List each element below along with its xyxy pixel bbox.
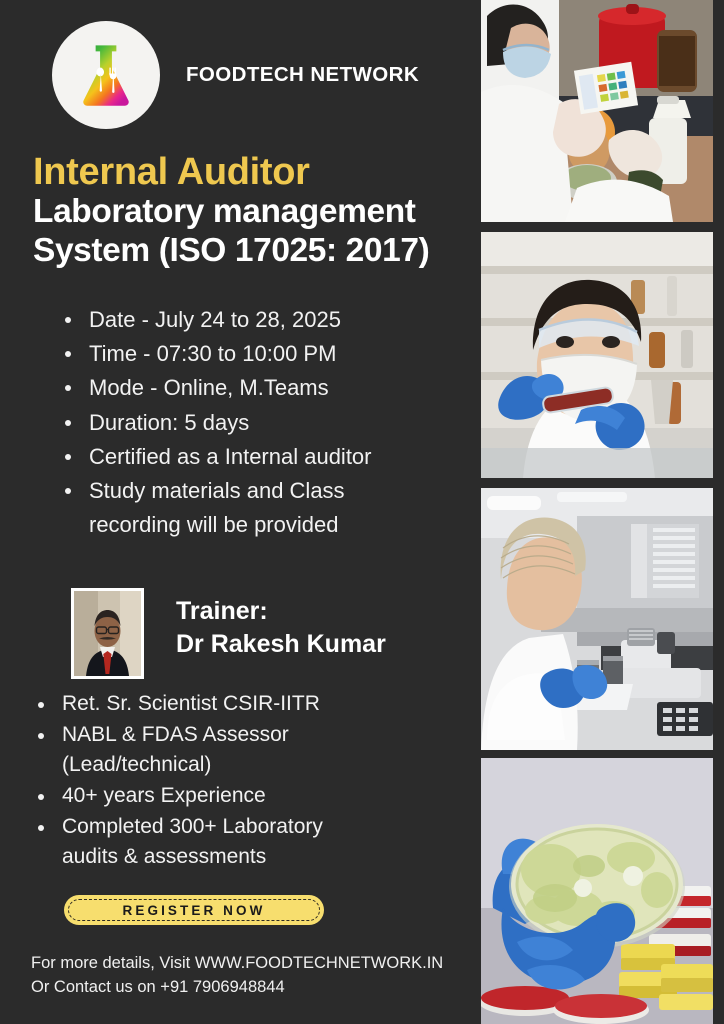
bullet-dot (65, 454, 71, 460)
list-item-label: Ret. Sr. Scientist CSIR-IITR (62, 692, 320, 715)
food-analyst-testing-ph-strips-photo (481, 0, 713, 222)
bullet-dot (65, 351, 71, 357)
trainer-credentials-list: Ret. Sr. Scientist CSIR-IITR NABL & FDAS… (34, 689, 464, 873)
bullet-dot (65, 317, 71, 323)
footer-website-line: For more details, Visit WWW.FOODTECHNETW… (31, 952, 443, 976)
footer-phone-line: Or Contact us on +91 7906948844 (31, 976, 443, 1000)
footer-contact: For more details, Visit WWW.FOODTECHNETW… (31, 952, 443, 1000)
list-item: Mode - Online, M.Teams (62, 371, 477, 405)
page-title: Internal Auditor Laboratory management S… (33, 152, 481, 271)
course-details-list: Date - July 24 to 28, 2025 Time - 07:30 … (62, 303, 477, 542)
flask-with-cutlery-icon (52, 21, 160, 129)
list-item: Date - July 24 to 28, 2025 (62, 303, 477, 337)
title-line-2: Laboratory management (33, 193, 481, 232)
list-item: Completed 300+ Laboratory audits & asses… (34, 812, 464, 873)
bullet-dot (38, 825, 44, 831)
list-item-label-cont: recording will be provided (89, 508, 477, 542)
bullet-dot (38, 794, 44, 800)
bullet-dot (65, 420, 71, 426)
trainer-label: Trainer: (176, 595, 386, 628)
photo-column (481, 0, 724, 1024)
list-item-label: Certified as a Internal auditor (89, 444, 372, 469)
list-item-label: Duration: 5 days (89, 410, 249, 435)
gloved-hands-holding-petri-dish-photo (481, 758, 713, 1024)
lab-scientist-holding-test-tube-photo (481, 232, 713, 478)
list-item-label: 40+ years Experience (62, 784, 266, 807)
list-item: 40+ years Experience (34, 781, 464, 812)
register-now-button[interactable]: REGISTER NOW (64, 895, 324, 925)
list-item-label: Mode - Online, M.Teams (89, 375, 329, 400)
list-item-label: NABL & FDAS Assessor (62, 723, 289, 746)
list-item: Ret. Sr. Scientist CSIR-IITR (34, 689, 464, 720)
bullet-dot (65, 385, 71, 391)
register-button-label: REGISTER NOW (123, 903, 266, 918)
title-line-1: Internal Auditor (33, 152, 481, 192)
bullet-dot (38, 733, 44, 739)
bullet-dot (38, 702, 44, 708)
list-item-label: Study materials and Class (89, 478, 345, 503)
list-item-label-cont: audits & assessments (62, 842, 464, 873)
trainer-block: Trainer: Dr Rakesh Kumar (71, 588, 386, 679)
poster-canvas: FOODTECH NETWORK Internal Auditor Labora… (0, 0, 724, 1024)
list-item-label: Completed 300+ Laboratory (62, 815, 323, 838)
list-item-label: Date - July 24 to 28, 2025 (89, 307, 341, 332)
list-item-label: Time - 07:30 to 10:00 PM (89, 341, 336, 366)
list-item: Duration: 5 days (62, 406, 477, 440)
list-item: NABL & FDAS Assessor (Lead/technical) (34, 720, 464, 781)
trainer-portrait (71, 588, 144, 679)
register-button-dashed-frame: REGISTER NOW (68, 899, 320, 921)
bullet-dot (65, 488, 71, 494)
trainer-name: Dr Rakesh Kumar (176, 628, 386, 661)
title-line-3: System (ISO 17025: 2017) (33, 232, 481, 271)
food-technologist-weighing-cans-photo (481, 488, 713, 750)
brand-header: FOODTECH NETWORK (52, 21, 419, 129)
list-item: Study materials and Class recording will… (62, 474, 477, 542)
brand-name: FOODTECH NETWORK (186, 63, 419, 87)
list-item-label-cont: (Lead/technical) (62, 750, 464, 781)
list-item: Certified as a Internal auditor (62, 440, 477, 474)
list-item: Time - 07:30 to 10:00 PM (62, 337, 477, 371)
content-column: FOODTECH NETWORK Internal Auditor Labora… (0, 0, 481, 1024)
